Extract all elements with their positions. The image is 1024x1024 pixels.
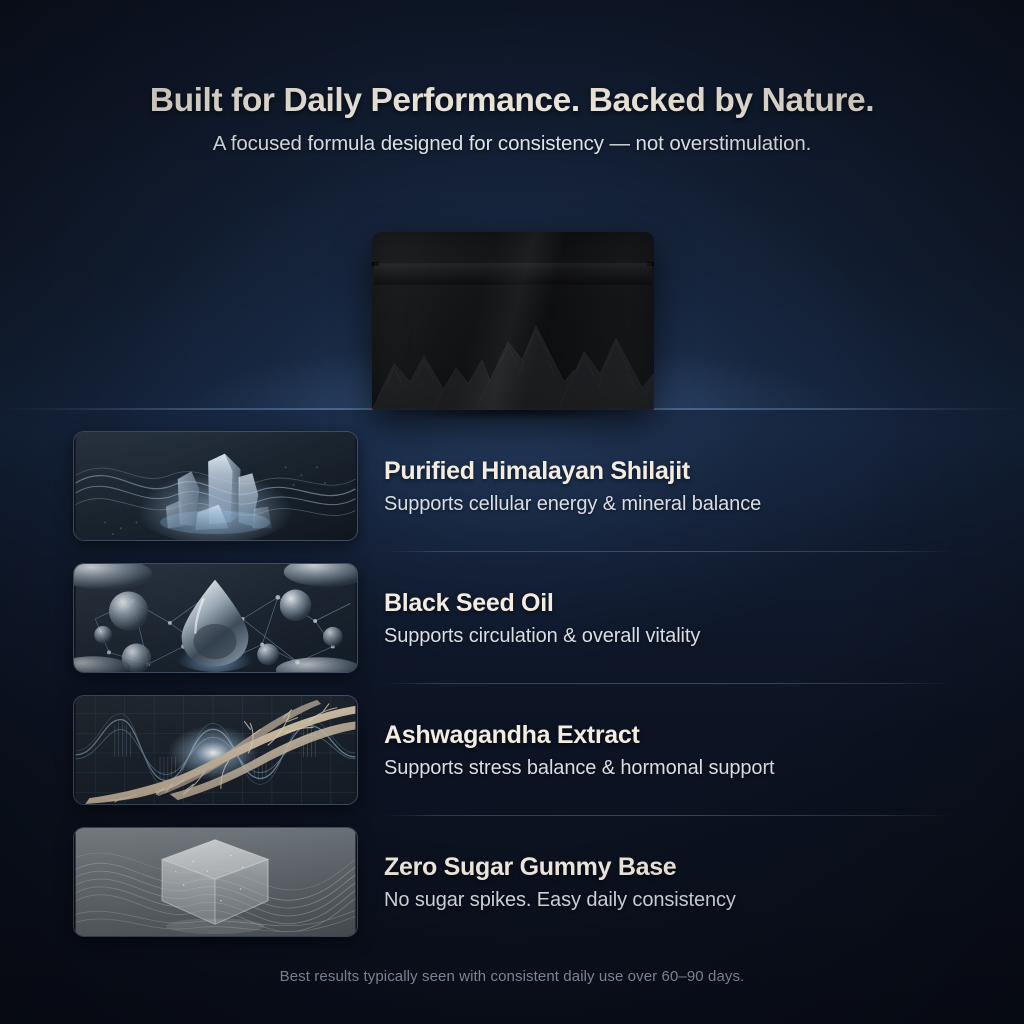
list-item[interactable]: Black Seed Oil Supports circulation & ov… [0,552,1024,684]
crystal-cluster-icon [73,431,358,541]
ingredient-title: Purified Himalayan Shilajit [384,457,964,486]
list-item[interactable]: Ashwagandha Extract Supports stress bala… [0,684,1024,816]
gummy-cube-icon [73,827,358,937]
product-pouch [372,232,654,410]
ingredient-description: Supports circulation & overall vitality [384,625,964,648]
ingredient-description: Supports cellular energy & mineral balan… [384,493,964,516]
oil-droplet-molecule-icon [73,563,358,673]
ingredient-title: Zero Sugar Gummy Base [384,853,964,882]
list-item[interactable]: Purified Himalayan Shilajit Supports cel… [0,420,1024,552]
ingredient-list: Purified Himalayan Shilajit Supports cel… [0,420,1024,948]
page-subtitle: A focused formula designed for consisten… [0,132,1024,156]
header: Built for Daily Performance. Backed by N… [0,82,1024,156]
page-title: Built for Daily Performance. Backed by N… [0,82,1024,120]
ingredient-title: Black Seed Oil [384,589,964,618]
root-waveform-icon [73,695,358,805]
ingredient-title: Ashwagandha Extract [384,721,964,750]
footer-note: Best results typically seen with consist… [0,968,1024,985]
ingredient-description: No sugar spikes. Easy daily consistency [384,889,964,912]
pouch-sheen [372,232,654,410]
list-item[interactable]: Zero Sugar Gummy Base No sugar spikes. E… [0,816,1024,948]
ingredient-description: Supports stress balance & hormonal suppo… [384,757,964,780]
